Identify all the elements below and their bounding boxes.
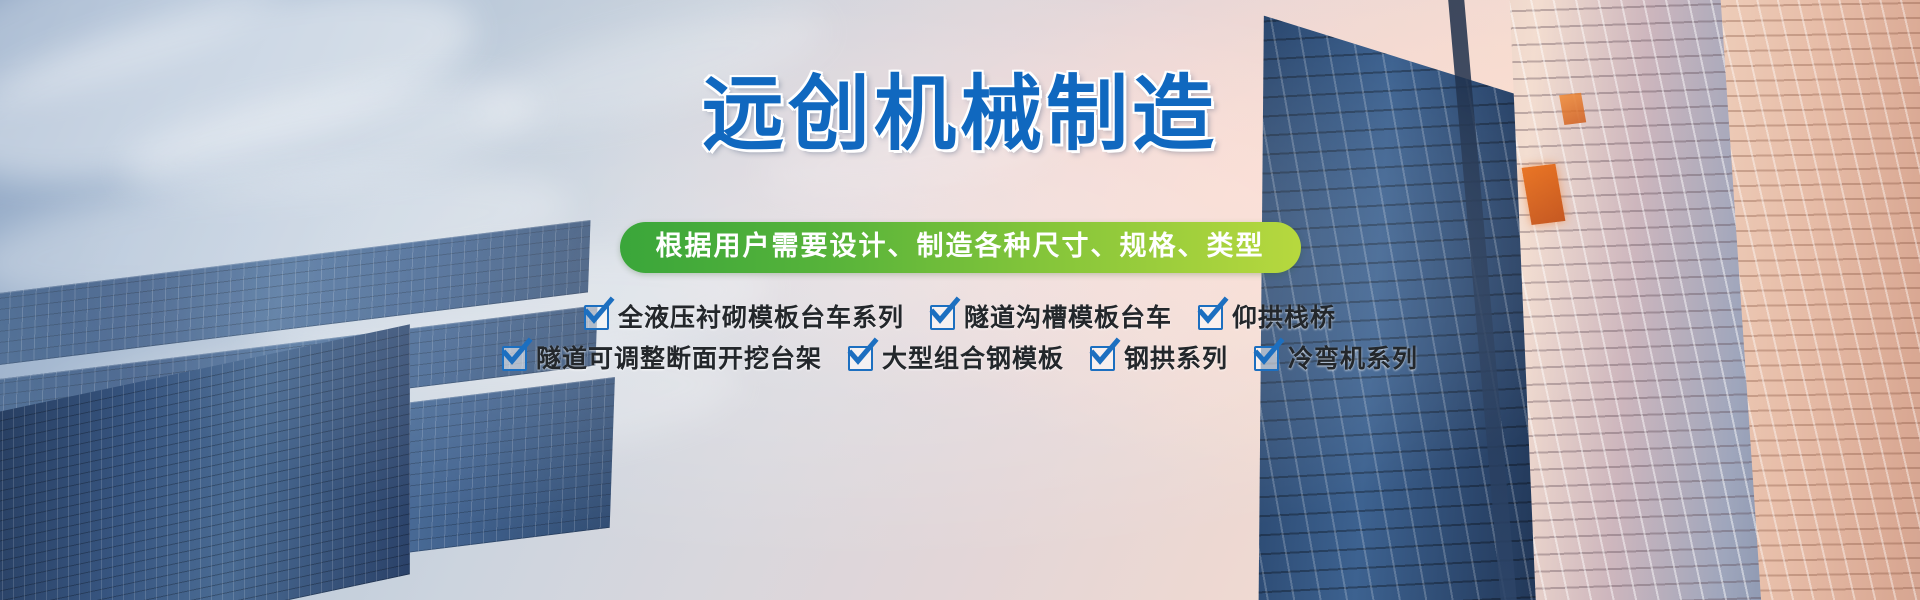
feature-label: 大型组合钢模板 (882, 346, 1064, 371)
check-mark-icon (930, 305, 955, 330)
feature-list: 全液压衬砌模板台车系列 隧道沟槽模板台车 仰拱栈桥 (0, 305, 1920, 371)
check-mark-icon (502, 346, 527, 371)
feature-item[interactable]: 仰拱栈桥 (1198, 305, 1336, 330)
feature-label: 隧道沟槽模板台车 (964, 305, 1172, 330)
check-mark-icon (848, 346, 873, 371)
tagline-pill: 根据用户需要设计、制造各种尺寸、规格、类型 (620, 222, 1301, 273)
feature-item[interactable]: 大型组合钢模板 (848, 346, 1064, 371)
promotional-banner: 远创机械制造 根据用户需要设计、制造各种尺寸、规格、类型 全液压衬砌模板台车系列… (0, 0, 1920, 600)
feature-label: 隧道可调整断面开挖台架 (536, 346, 822, 371)
feature-label: 冷弯机系列 (1288, 346, 1418, 371)
feature-row: 全液压衬砌模板台车系列 隧道沟槽模板台车 仰拱栈桥 (584, 305, 1336, 330)
banner-content: 远创机械制造 根据用户需要设计、制造各种尺寸、规格、类型 全液压衬砌模板台车系列… (0, 0, 1920, 600)
check-mark-icon (1254, 346, 1279, 371)
feature-row: 隧道可调整断面开挖台架 大型组合钢模板 钢拱系列 (502, 346, 1418, 371)
banner-title: 远创机械制造 (0, 74, 1920, 156)
feature-item[interactable]: 隧道可调整断面开挖台架 (502, 346, 822, 371)
feature-label: 全液压衬砌模板台车系列 (618, 305, 904, 330)
check-mark-icon (1198, 305, 1223, 330)
feature-item[interactable]: 钢拱系列 (1090, 346, 1228, 371)
tagline-row: 根据用户需要设计、制造各种尺寸、规格、类型 (0, 222, 1920, 273)
feature-label: 钢拱系列 (1124, 346, 1228, 371)
check-mark-icon (1090, 346, 1115, 371)
feature-label: 仰拱栈桥 (1232, 305, 1336, 330)
feature-item[interactable]: 冷弯机系列 (1254, 346, 1418, 371)
feature-item[interactable]: 全液压衬砌模板台车系列 (584, 305, 904, 330)
feature-item[interactable]: 隧道沟槽模板台车 (930, 305, 1172, 330)
check-mark-icon (584, 305, 609, 330)
